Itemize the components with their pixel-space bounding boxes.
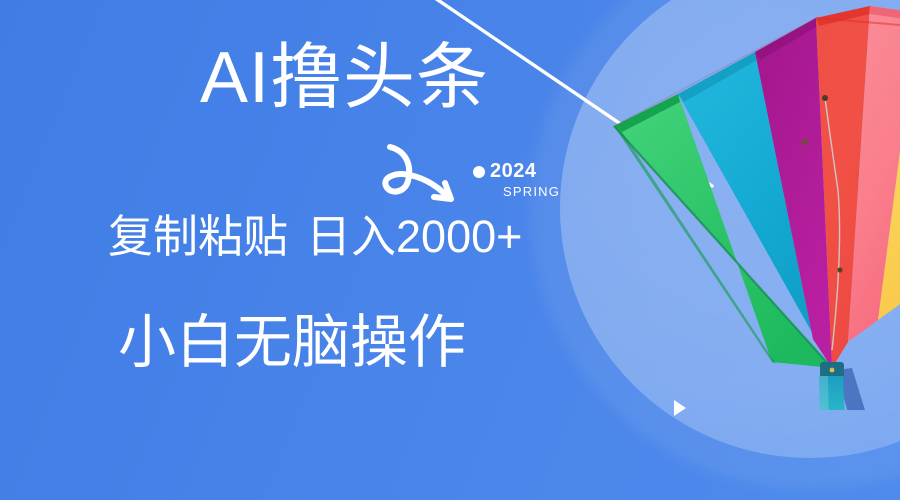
- page-title: AI撸头条: [200, 42, 489, 114]
- badge-year: 2024: [490, 160, 537, 182]
- curly-arrow-icon: [372, 139, 472, 211]
- copy-block: AI撸头条 2024 SPRING 复制粘贴日入2000+ 小白无脑操作: [0, 0, 600, 500]
- tagline: 小白无脑操作: [118, 314, 466, 372]
- poster-canvas: AI撸头条 2024 SPRING 复制粘贴日入2000+ 小白无脑操作: [0, 0, 900, 500]
- season-badge: 2024 SPRING: [473, 160, 583, 199]
- play-triangle-icon: [674, 400, 686, 416]
- badge-season: SPRING: [503, 184, 583, 199]
- subheadline-left: 复制粘贴: [108, 211, 288, 262]
- subheadline-right: 日入2000+: [306, 211, 522, 262]
- subheadline: 复制粘贴日入2000+: [108, 214, 522, 259]
- kite-panels: [614, 6, 900, 368]
- badge-dot-icon: [473, 166, 485, 178]
- rainbow-kite: [600, 0, 900, 410]
